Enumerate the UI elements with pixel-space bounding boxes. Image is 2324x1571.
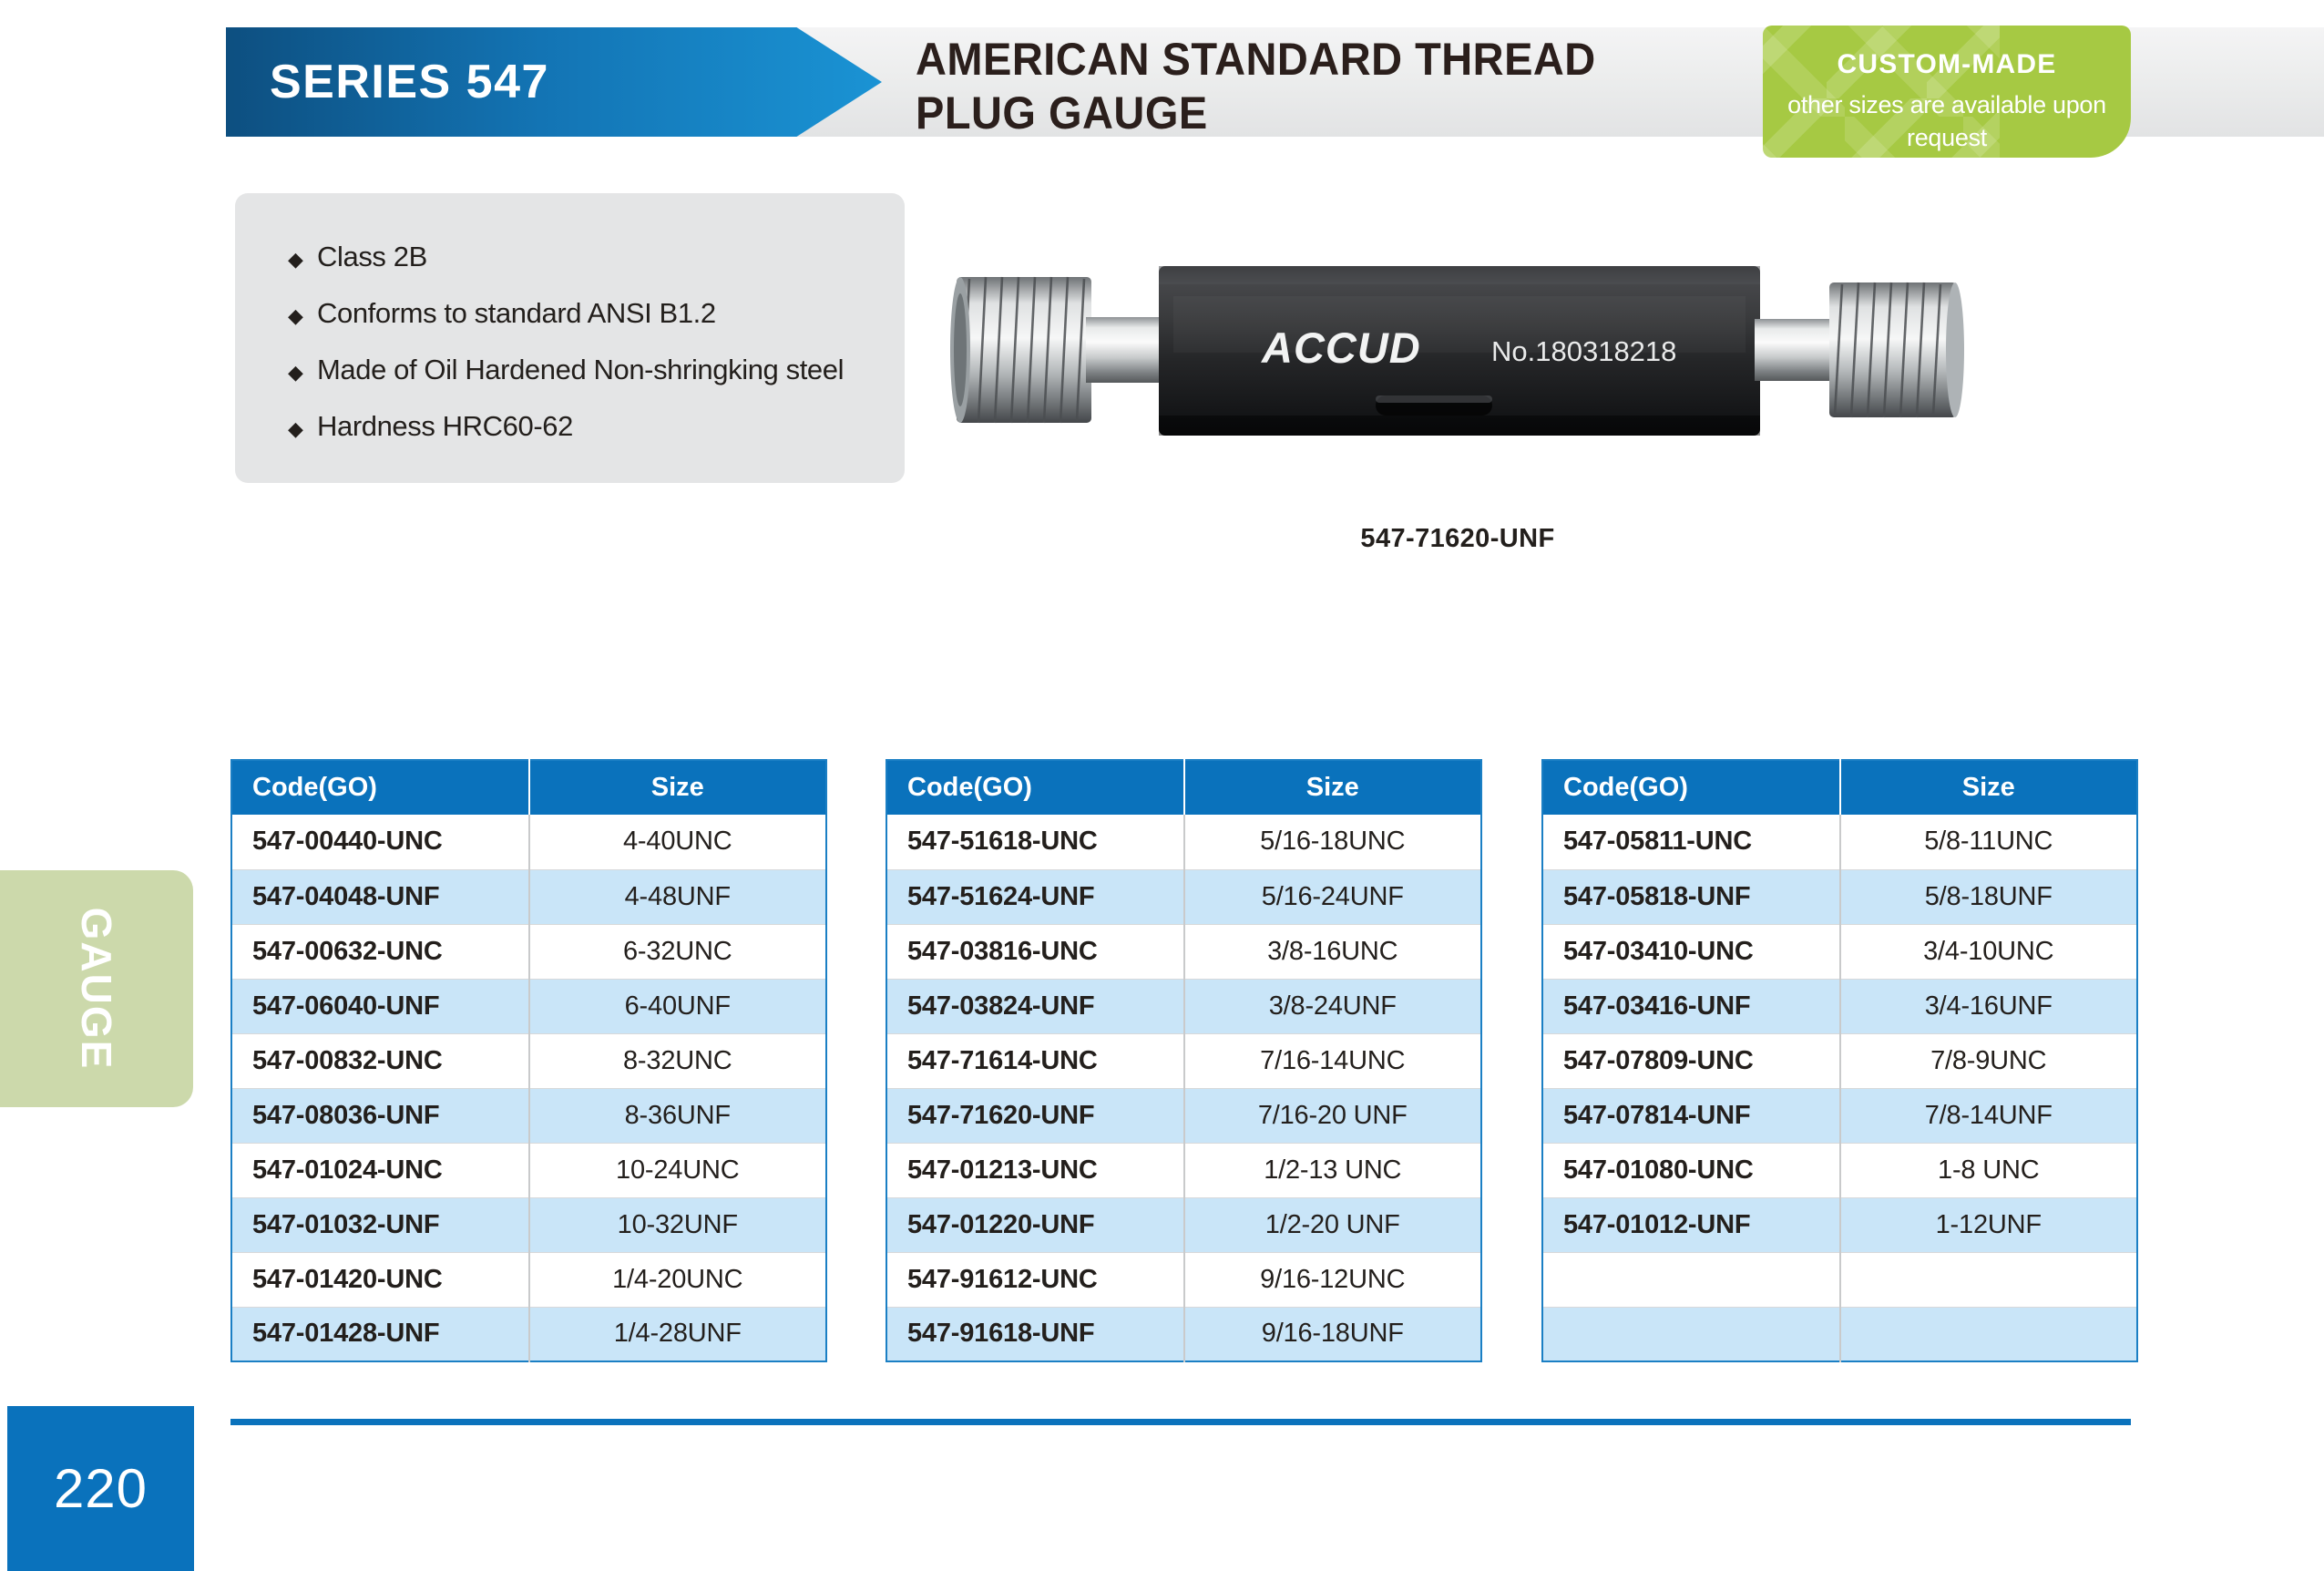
table-row[interactable]: 547-00440-UNC4-40UNC: [231, 815, 826, 869]
cell-size: 4-40UNC: [529, 815, 827, 869]
cell-size: 5/8-11UNC: [1840, 815, 2138, 869]
table-row[interactable]: 547-06040-UNF6-40UNF: [231, 979, 826, 1033]
feature-text: Made of Oil Hardened Non-shringking stee…: [317, 354, 844, 386]
cell-size: 1/4-28UNF: [529, 1307, 827, 1361]
table-row[interactable]: 547-03816-UNC3/8-16UNC: [886, 924, 1481, 979]
series-label: SERIES 547: [270, 55, 549, 109]
cell-size: 4-48UNF: [529, 869, 827, 924]
table-row-empty: [1542, 1252, 2137, 1307]
cell-size: 6-32UNC: [529, 924, 827, 979]
cell-code: 547-06040-UNF: [231, 979, 529, 1033]
table-row[interactable]: 547-01012-UNF1-12UNF: [1542, 1197, 2137, 1252]
cell-code: 547-07809-UNC: [1542, 1033, 1840, 1088]
table-row-empty: [1542, 1307, 2137, 1361]
product-table-1: Code(GO) Size 547-00440-UNC4-40UNC 547-0…: [230, 759, 827, 1362]
feature-item: ◆ Hardness HRC60-62: [288, 410, 905, 443]
table-row[interactable]: 547-01428-UNF1/4-28UNF: [231, 1307, 826, 1361]
cell-code: 547-51618-UNC: [886, 815, 1184, 869]
cell-code: 547-00440-UNC: [231, 815, 529, 869]
table-row[interactable]: 547-03824-UNF3/8-24UNF: [886, 979, 1481, 1033]
thread-plug-gauge-illustration: ACCUD No.180318218: [947, 246, 1968, 456]
svg-text:ACCUD: ACCUD: [1261, 323, 1421, 372]
page-title: AMERICAN STANDARD THREAD PLUG GAUGE: [916, 33, 1686, 139]
page-number-box: 220: [7, 1406, 194, 1571]
cell-code: 547-01213-UNC: [886, 1143, 1184, 1197]
product-photo: ACCUD No.180318218: [947, 246, 1968, 456]
cell-size: 3/4-10UNC: [1840, 924, 2138, 979]
cell-size: 10-24UNC: [529, 1143, 827, 1197]
diamond-bullet-icon: ◆: [288, 250, 317, 270]
cell-size: 7/16-14UNC: [1184, 1033, 1482, 1088]
cell-size: 5/16-18UNC: [1184, 815, 1482, 869]
cell-size: 10-32UNF: [529, 1197, 827, 1252]
cell-code: 547-01428-UNF: [231, 1307, 529, 1361]
column-header-code: Code(GO): [1542, 760, 1840, 815]
cell-size: [1840, 1307, 2138, 1361]
column-header-code: Code(GO): [886, 760, 1184, 815]
table-header-row: Code(GO) Size: [231, 760, 826, 815]
cell-size: 3/4-16UNF: [1840, 979, 2138, 1033]
cell-code: 547-00832-UNC: [231, 1033, 529, 1088]
cell-code: 547-71614-UNC: [886, 1033, 1184, 1088]
column-header-code: Code(GO): [231, 760, 529, 815]
table-row[interactable]: 547-03410-UNC3/4-10UNC: [1542, 924, 2137, 979]
cell-code: 547-01012-UNF: [1542, 1197, 1840, 1252]
column-header-size: Size: [1184, 760, 1482, 815]
product-caption: 547-71620-UNF: [947, 524, 1968, 554]
cell-code: 547-07814-UNF: [1542, 1088, 1840, 1143]
cell-code: 547-03410-UNC: [1542, 924, 1840, 979]
table-row[interactable]: 547-01213-UNC1/2-13 UNC: [886, 1143, 1481, 1197]
cell-code: 547-04048-UNF: [231, 869, 529, 924]
cell-size: 8-36UNF: [529, 1088, 827, 1143]
table-row[interactable]: 547-05811-UNC5/8-11UNC: [1542, 815, 2137, 869]
feature-item: ◆ Class 2B: [288, 241, 905, 273]
table-row[interactable]: 547-91612-UNC9/16-12UNC: [886, 1252, 1481, 1307]
cell-code: 547-03824-UNF: [886, 979, 1184, 1033]
cell-code: 547-71620-UNF: [886, 1088, 1184, 1143]
table-row[interactable]: 547-00832-UNC8-32UNC: [231, 1033, 826, 1088]
table-row[interactable]: 547-71620-UNF7/16-20 UNF: [886, 1088, 1481, 1143]
custom-made-subtitle: other sizes are available upon request: [1763, 89, 2131, 154]
cell-size: [1840, 1252, 2138, 1307]
cell-code: [1542, 1307, 1840, 1361]
cell-code: 547-01420-UNC: [231, 1252, 529, 1307]
feature-text: Conforms to standard ANSI B1.2: [317, 297, 716, 330]
table-row[interactable]: 547-51618-UNC5/16-18UNC: [886, 815, 1481, 869]
table-row[interactable]: 547-71614-UNC7/16-14UNC: [886, 1033, 1481, 1088]
cell-code: 547-08036-UNF: [231, 1088, 529, 1143]
table-row[interactable]: 547-07814-UNF7/8-14UNF: [1542, 1088, 2137, 1143]
table-row[interactable]: 547-01220-UNF1/2-20 UNF: [886, 1197, 1481, 1252]
cell-code: 547-91612-UNC: [886, 1252, 1184, 1307]
feature-item: ◆ Made of Oil Hardened Non-shringking st…: [288, 354, 905, 386]
cell-size: 5/16-24UNF: [1184, 869, 1482, 924]
page-number: 220: [54, 1457, 148, 1520]
column-header-size: Size: [1840, 760, 2138, 815]
table-header-row: Code(GO) Size: [1542, 760, 2137, 815]
feature-item: ◆ Conforms to standard ANSI B1.2: [288, 297, 905, 330]
column-header-size: Size: [529, 760, 827, 815]
table-row[interactable]: 547-07809-UNC7/8-9UNC: [1542, 1033, 2137, 1088]
cell-code: 547-05811-UNC: [1542, 815, 1840, 869]
feature-text: Hardness HRC60-62: [317, 410, 573, 443]
table-row[interactable]: 547-01080-UNC1-8 UNC: [1542, 1143, 2137, 1197]
cell-size: 1-8 UNC: [1840, 1143, 2138, 1197]
table-row[interactable]: 547-01024-UNC10-24UNC: [231, 1143, 826, 1197]
cell-size: 9/16-12UNC: [1184, 1252, 1482, 1307]
cell-size: 1/2-13 UNC: [1184, 1143, 1482, 1197]
cell-size: 3/8-24UNF: [1184, 979, 1482, 1033]
series-banner: SERIES 547: [226, 27, 882, 137]
table-row[interactable]: 547-01032-UNF10-32UNF: [231, 1197, 826, 1252]
features-panel: ◆ Class 2B ◆ Conforms to standard ANSI B…: [235, 193, 905, 483]
diamond-bullet-icon: ◆: [288, 306, 317, 326]
cell-size: 3/8-16UNC: [1184, 924, 1482, 979]
page-title-line2: PLUG GAUGE: [916, 87, 1686, 140]
cell-code: 547-01220-UNF: [886, 1197, 1184, 1252]
cell-code: 547-01024-UNC: [231, 1143, 529, 1197]
table-row[interactable]: 547-51624-UNF5/16-24UNF: [886, 869, 1481, 924]
cell-code: 547-05818-UNF: [1542, 869, 1840, 924]
table-row[interactable]: 547-01420-UNC1/4-20UNC: [231, 1252, 826, 1307]
cell-size: 1-12UNF: [1840, 1197, 2138, 1252]
cell-code: [1542, 1252, 1840, 1307]
cell-code: 547-51624-UNF: [886, 869, 1184, 924]
diamond-bullet-icon: ◆: [288, 363, 317, 383]
cell-size: 1/2-20 UNF: [1184, 1197, 1482, 1252]
footer-divider: [230, 1419, 2131, 1425]
cell-code: 547-00632-UNC: [231, 924, 529, 979]
cell-code: 547-03816-UNC: [886, 924, 1184, 979]
diamond-bullet-icon: ◆: [288, 419, 317, 439]
cell-size: 8-32UNC: [529, 1033, 827, 1088]
cell-size: 1/4-20UNC: [529, 1252, 827, 1307]
custom-made-badge: CUSTOM-MADE other sizes are available up…: [1763, 26, 2131, 158]
cell-size: 7/16-20 UNF: [1184, 1088, 1482, 1143]
product-table-3: Code(GO) Size 547-05811-UNC5/8-11UNC 547…: [1541, 759, 2138, 1362]
cell-size: 7/8-14UNF: [1840, 1088, 2138, 1143]
cell-size: 6-40UNF: [529, 979, 827, 1033]
svg-text:No.180318218: No.180318218: [1491, 335, 1676, 367]
cell-size: 7/8-9UNC: [1840, 1033, 2138, 1088]
product-tables: Code(GO) Size 547-00440-UNC4-40UNC 547-0…: [0, 759, 2324, 1351]
cell-code: 547-91618-UNF: [886, 1307, 1184, 1361]
table-row[interactable]: 547-91618-UNF9/16-18UNF: [886, 1307, 1481, 1361]
cell-code: 547-01080-UNC: [1542, 1143, 1840, 1197]
table-row[interactable]: 547-03416-UNF3/4-16UNF: [1542, 979, 2137, 1033]
cell-code: 547-03416-UNF: [1542, 979, 1840, 1033]
table-row[interactable]: 547-08036-UNF8-36UNF: [231, 1088, 826, 1143]
cell-size: 5/8-18UNF: [1840, 869, 2138, 924]
product-table-2: Code(GO) Size 547-51618-UNC5/16-18UNC 54…: [886, 759, 1482, 1362]
cell-code: 547-01032-UNF: [231, 1197, 529, 1252]
table-row[interactable]: 547-05818-UNF5/8-18UNF: [1542, 869, 2137, 924]
feature-text: Class 2B: [317, 241, 427, 273]
table-header-row: Code(GO) Size: [886, 760, 1481, 815]
table-row[interactable]: 547-04048-UNF4-48UNF: [231, 869, 826, 924]
cell-size: 9/16-18UNF: [1184, 1307, 1482, 1361]
table-row[interactable]: 547-00632-UNC6-32UNC: [231, 924, 826, 979]
custom-made-title: CUSTOM-MADE: [1763, 49, 2131, 80]
page-title-line1: AMERICAN STANDARD THREAD: [916, 33, 1686, 87]
